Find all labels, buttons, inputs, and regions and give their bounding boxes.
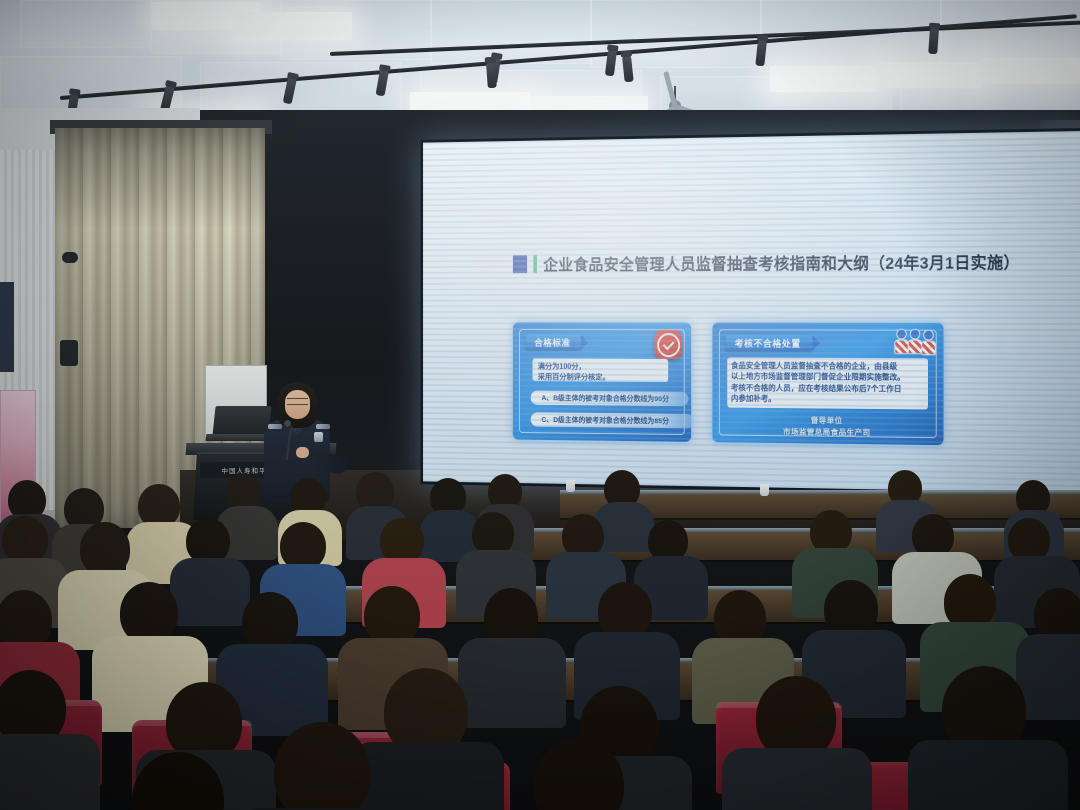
track-light — [486, 62, 497, 89]
photo-scene: 企业食品安全管理人员监督抽查考核指南和大纲（24年3月1日实施） 合格标准 满分… — [0, 0, 1080, 810]
noncompliance-card-tag: 考核不合格处置 — [725, 335, 812, 351]
criteria-body-line-1: 满分为100分， — [538, 361, 667, 372]
paper-cup — [760, 484, 769, 496]
criteria-body-line-2: 采用百分制评分核定。 — [538, 372, 667, 383]
check-mark-icon — [662, 338, 674, 350]
camera-icon — [62, 252, 78, 263]
audience-area — [0, 470, 1080, 810]
title-bullet-icon — [513, 255, 527, 273]
glasses-icon — [287, 398, 308, 405]
track-light — [928, 28, 939, 55]
presenter-hand — [296, 447, 309, 458]
presenter-epaulette-left — [268, 424, 282, 429]
panel-light — [876, 62, 982, 88]
red-check-badge-icon — [654, 330, 682, 359]
wall-panel — [0, 282, 14, 372]
panel-light — [770, 66, 876, 92]
noncompliance-card: 考核不合格处置 食品安全管理人员监督抽查不合格的企业，由县级 以上地方市场监督管… — [712, 323, 943, 446]
criteria-card-tag: 合格标准 — [525, 335, 581, 350]
led-screen[interactable]: 企业食品安全管理人员监督抽查考核指南和大纲（24年3月1日实施） 合格标准 满分… — [420, 128, 1080, 496]
presenter-badge — [314, 432, 323, 442]
check-ring-icon — [657, 333, 680, 357]
slide-surface: 企业食品安全管理人员监督抽查考核指南和大纲（24年3月1日实施） 合格标准 满分… — [423, 131, 1080, 493]
wall-speaker — [60, 340, 78, 366]
criteria-pill-1: A、B级主体的被考对象合格分数线为90分 — [531, 391, 689, 407]
panel-light — [982, 58, 1080, 84]
credit-org: 市场监管总局食品生产司 — [712, 426, 943, 440]
title-accent-icon — [533, 255, 537, 273]
criteria-pill-2: C、D级主体的被考对象合格分数线为85分 — [531, 412, 694, 428]
panel-light — [232, 12, 352, 40]
people-barrier-icon — [893, 329, 935, 359]
laptop[interactable] — [212, 406, 271, 436]
noncompliance-line-2: 以上地方市场监督管理部门督促企业限期实施整改。 — [731, 371, 926, 383]
paper-cup — [566, 480, 575, 492]
criteria-card: 合格标准 满分为100分， 采用百分制评分核定。 A、B级主体的被考对象合格分数… — [513, 322, 691, 441]
microphone-icon — [284, 420, 291, 427]
noncompliance-line-4: 内参加补考。 — [731, 393, 926, 405]
presenter-epaulette-right — [316, 424, 330, 429]
slide-title-row: 企业食品安全管理人员监督抽查考核指南和大纲（24年3月1日实施） — [513, 249, 1020, 275]
slide-title: 企业食品安全管理人员监督抽查考核指南和大纲（24年3月1日实施） — [543, 249, 1020, 275]
